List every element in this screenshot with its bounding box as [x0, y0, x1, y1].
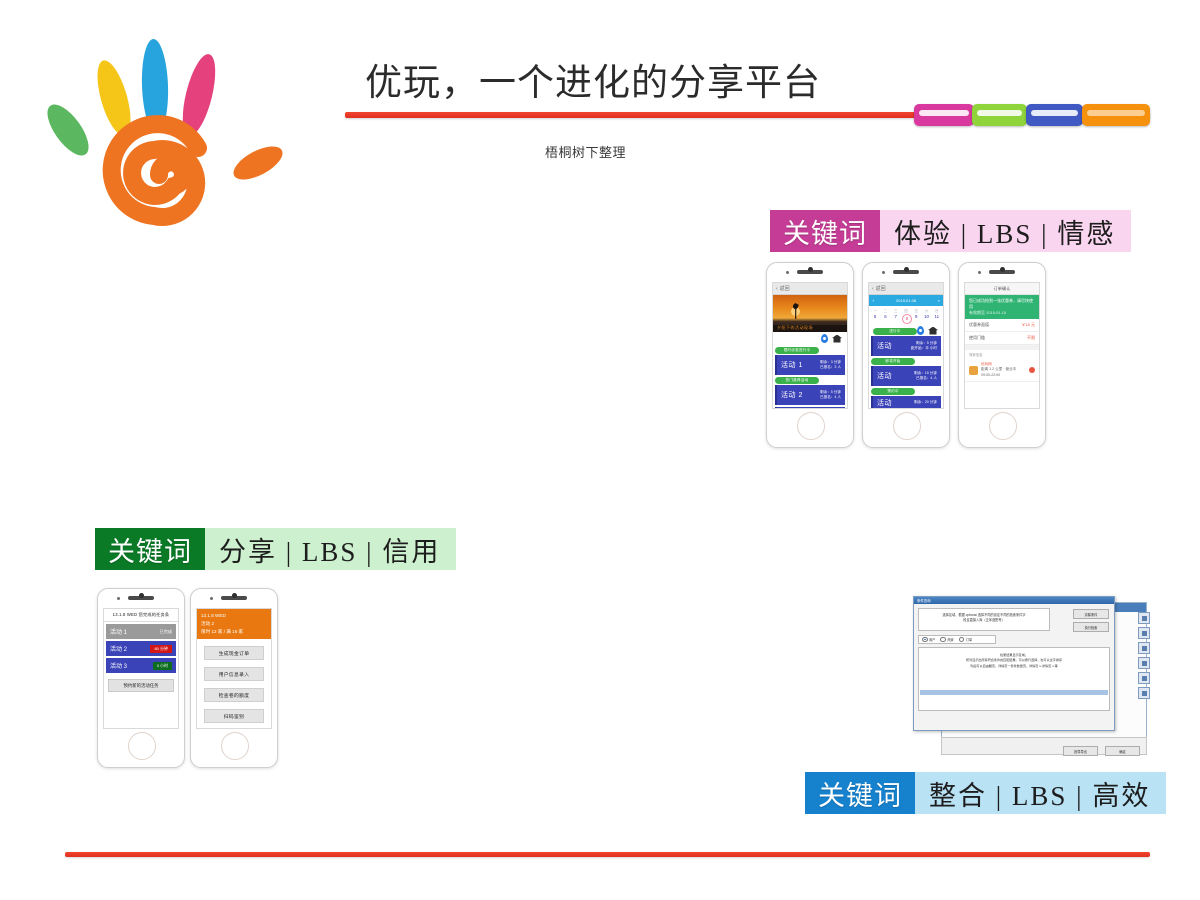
- activity-meta-line2: 已报名：3 人: [820, 365, 841, 370]
- book-new-task-button[interactable]: 预约新的活动任务: [108, 679, 174, 692]
- radio-option-order[interactable]: 订单: [959, 637, 972, 643]
- screen-header: 订单确认: [965, 283, 1039, 295]
- phone-mockup-order-confirm: 订单确认 您已成功抢到一张优惠券，请尽快使用 有效期至 2015.01.15 优…: [958, 262, 1046, 448]
- keyword-banner-integration: 关键词 整合 | LBS | 高效: [805, 772, 1166, 814]
- task-row[interactable]: 活动 3 3 小时: [106, 658, 176, 673]
- activity-meta-line2: 距开始：半 小时: [911, 346, 937, 351]
- phone-mockup-activity-list: ‹ 返回 夕阳下的活动现场 限时优惠进行中 活动 1 剩余：3 分钟 已报名：3…: [766, 262, 854, 448]
- home-icon[interactable]: [928, 327, 938, 335]
- menu-button-user-entry[interactable]: 用户信息录入: [204, 667, 264, 681]
- phone-camera-dot: [210, 597, 213, 600]
- menu-button-scan-verify[interactable]: 扫码鉴别: [204, 709, 264, 723]
- menu-button-generate-order[interactable]: 生成现金订单: [204, 646, 264, 660]
- description-box: 选择区域、根据 optional 选择不同的设定不同的检索条件字 段且直接入库（…: [918, 608, 1050, 631]
- decor-chip-orange: [1082, 104, 1150, 126]
- weekday-cell[interactable]: 六10: [923, 308, 931, 324]
- home-icon[interactable]: [832, 335, 842, 343]
- decor-chip-green: [972, 104, 1027, 126]
- task-status-badge: 3 小时: [153, 662, 172, 670]
- activity-meta: 剩余：3 分钟 已报名：3 人: [820, 360, 841, 371]
- toolbar-icon-button[interactable]: [1138, 672, 1150, 684]
- toolbar-icon-button[interactable]: [1138, 687, 1150, 699]
- menu-button-check-quota[interactable]: 检查卷的额度: [204, 688, 264, 702]
- phone-screen: ‹ 返回 + 2015.01.08 ⌕ 一5 二6 三7 四8 五9 六10 日…: [868, 282, 944, 409]
- icon-toolbar-column: [1138, 612, 1150, 699]
- phone-camera-dot: [882, 271, 885, 274]
- bottom-action-bar: 批导导出 确定: [941, 737, 1147, 755]
- location-pin-icon[interactable]: [917, 326, 924, 335]
- screen-header: 13.1.8 WED 您完成的任务条: [104, 609, 178, 622]
- home-button[interactable]: [989, 412, 1017, 440]
- nav-bar: ‹ 返回: [869, 283, 943, 295]
- header-line1: 13.1.8 WED: [201, 612, 267, 620]
- home-button[interactable]: [893, 412, 921, 440]
- phone-lens-dot: [139, 593, 144, 598]
- tag-pill: 限时优惠进行中: [775, 347, 819, 354]
- radio-label: 商家: [947, 637, 953, 642]
- nav-back-label: 返回: [876, 285, 886, 292]
- decor-chip-blue: [1026, 104, 1083, 126]
- slide-canvas: 优玩，一个进化的分享平台 梧桐树下整理 关键词 体验 | LBS | 情感 关键…: [0, 0, 1200, 900]
- hero-icon-row: [773, 332, 847, 345]
- phone-lens-dot: [904, 267, 909, 272]
- run-search-button[interactable]: 执行检索: [1073, 622, 1109, 632]
- activity-meta: 剩余：15 分钟 已报名：4 人: [914, 371, 937, 382]
- activity-name: 活动: [877, 341, 892, 351]
- tag-pill: 进行中: [873, 328, 917, 335]
- phone-camera-dot: [117, 597, 120, 600]
- weekday-cell[interactable]: 日11: [933, 308, 941, 324]
- weekday-cell[interactable]: 五9: [912, 308, 920, 324]
- promo-banner: 您已成功抢到一张优惠券，请尽快使用 有效期至 2015.01.15: [965, 295, 1039, 319]
- query-dialog: 条件查询 选择区域、根据 optional 选择不同的设定不同的检索条件字 段且…: [913, 596, 1115, 731]
- keyword-tag-label: 关键词: [770, 210, 880, 252]
- weekday-label: 五: [915, 309, 918, 313]
- dialog-body: 选择区域、根据 optional 选择不同的设定不同的检索条件字 段且直接入库（…: [914, 604, 1114, 715]
- radio-indicator: [959, 637, 965, 643]
- weekday-number: 8: [902, 314, 912, 324]
- weekday-label: 二: [884, 309, 887, 313]
- search-icon[interactable]: ⌕: [938, 298, 940, 303]
- weekday-strip: 一5 二6 三7 四8 五9 六10 日11: [869, 306, 943, 325]
- home-button[interactable]: [128, 732, 156, 760]
- radio-label: 用户: [929, 637, 935, 642]
- date-label: 2015.01.08: [896, 298, 916, 303]
- weekday-number: 7: [892, 314, 900, 319]
- detail-row-value: ￥15 元: [1021, 322, 1035, 328]
- activity-card[interactable]: 活动 剩余：5 分钟 距开始：半 小时: [871, 336, 941, 356]
- task-status: 已完成: [159, 629, 172, 635]
- description-line2: 段且直接入库（正序逐配号）: [922, 618, 1046, 623]
- export-button[interactable]: 批导导出: [1063, 746, 1098, 756]
- task-name: 活动 2: [110, 644, 127, 653]
- radio-option-merchant[interactable]: 商家: [940, 637, 953, 643]
- brand-logo-hand-spiral: [22, 20, 307, 240]
- task-name: 活动 1: [110, 627, 127, 636]
- phone-lens-dot: [1000, 267, 1005, 272]
- notification-badge-icon: [1029, 367, 1035, 373]
- weekday-cell[interactable]: 一5: [871, 308, 879, 324]
- dialog-side-buttons: 清除条件 执行检索: [1073, 609, 1109, 632]
- footer-divider-rule: [65, 852, 1150, 857]
- toolbar-icon-button[interactable]: [1138, 657, 1150, 669]
- home-button[interactable]: [221, 732, 249, 760]
- section-title: 商家信息: [965, 350, 1039, 359]
- nav-back-label: 返回: [780, 285, 790, 292]
- desktop-app-screenshot: 批导导出 确定 条件查询 选择区域、根据 optional 选择不同的设定不同的…: [913, 596, 1153, 761]
- keyword-body-label: 分享 | LBS | 信用: [205, 528, 456, 570]
- activity-name: 活动: [877, 371, 892, 381]
- activity-meta: 剩余：20 分钟: [914, 400, 937, 405]
- page-title: 优玩，一个进化的分享平台: [365, 52, 821, 106]
- weekday-number: 6: [881, 314, 889, 319]
- activity-meta: 剩余：5 分钟 距开始：半 小时: [911, 341, 937, 352]
- keyword-body-label: 体验 | LBS | 情感: [880, 210, 1131, 252]
- weekday-number: 9: [912, 314, 920, 319]
- toolbar-icon-button[interactable]: [1138, 642, 1150, 654]
- detail-row: 优惠券面值 ￥15 元: [965, 319, 1039, 332]
- keyword-tag-label: 关键词: [805, 772, 915, 814]
- results-selected-row[interactable]: [920, 690, 1108, 695]
- activity-meta-line2: 已报名：4 人: [820, 395, 841, 400]
- weekday-cell[interactable]: 三7: [892, 308, 900, 324]
- promo-banner-line2: 有效期至 2015.01.15: [969, 310, 1035, 316]
- keyword-body-label: 整合 | LBS | 高效: [915, 772, 1166, 814]
- back-arrow-icon[interactable]: ‹: [776, 286, 778, 292]
- radio-indicator: [922, 637, 928, 643]
- phone-camera-dot: [978, 271, 981, 274]
- results-list[interactable]: 检索结果显示区域。 所列显示出所有符合条件的匹配结果，可以按行选择，也可以全字排…: [918, 647, 1110, 711]
- weekday-number: 11: [933, 314, 941, 319]
- nav-bar: ‹ 返回: [773, 283, 847, 295]
- decor-chip-magenta: [914, 104, 974, 126]
- screen-header: 13.1.8 WED 活动 2 限时 12 家 / 满 15 家: [197, 609, 271, 639]
- page-subtitle: 梧桐树下整理: [545, 142, 626, 161]
- toolbar-icon-button[interactable]: [1138, 627, 1150, 639]
- home-button[interactable]: [797, 412, 825, 440]
- task-name: 活动 3: [110, 661, 127, 670]
- toolbar-icon-button[interactable]: [1138, 612, 1150, 624]
- tag-pill: 热门推荐活动: [775, 377, 819, 384]
- radio-option-user[interactable]: 用户: [922, 637, 935, 643]
- task-status-badge: 80 分钟: [150, 645, 172, 653]
- activity-card[interactable]: 活动 剩余：15 分钟 已报名：4 人: [871, 366, 941, 386]
- phone-screen: 13.1.8 WED 活动 2 限时 12 家 / 满 15 家 生成现金订单 …: [196, 608, 272, 729]
- phone-camera-dot: [786, 271, 789, 274]
- header-line2: 活动 2: [201, 620, 267, 628]
- weekday-number: 10: [923, 314, 931, 319]
- phone-screen: ‹ 返回 夕阳下的活动现场 限时优惠进行中 活动 1 剩余：3 分钟 已报名：3…: [772, 282, 848, 409]
- activity-name: 活动: [877, 398, 892, 408]
- weekday-label: 三: [894, 309, 897, 313]
- merchant-avatar: [969, 366, 978, 375]
- add-icon[interactable]: +: [872, 298, 874, 303]
- detail-row-value: 不限: [1027, 335, 1035, 341]
- promo-banner-line1: 您已成功抢到一张优惠券，请尽快使用: [969, 298, 1035, 310]
- weekday-cell[interactable]: 二6: [881, 308, 889, 324]
- radio-label: 订单: [966, 637, 972, 642]
- date-toolbar: + 2015.01.08 ⌕: [869, 295, 943, 306]
- merchant-row[interactable]: 优玩网 距离 1.2 公里 · 营业中 09:00-22:00: [965, 359, 1039, 382]
- hero-caption: 夕阳下的活动现场: [777, 325, 813, 331]
- weekday-label: 日: [935, 309, 938, 313]
- results-line3: 列后可以自由翻页，详情页一条件数量页，详情页 1-详情页 n 等: [923, 664, 1105, 669]
- phone-mockup-task-list: 13.1.8 WED 您完成的任务条 活动 1 已完成 活动 2 80 分钟 活…: [97, 588, 185, 768]
- weekday-label: 一: [873, 309, 876, 313]
- header-line3: 限时 12 家 / 满 15 家: [201, 628, 267, 636]
- keyword-banner-experience: 关键词 体验 | LBS | 情感: [770, 210, 1131, 252]
- phone-mockup-merchant-menu: 13.1.8 WED 活动 2 限时 12 家 / 满 15 家 生成现金订单 …: [190, 588, 278, 768]
- activity-card[interactable]: 活动 2 剩余：5 分钟 已报名：4 人: [775, 385, 845, 405]
- phone-lens-dot: [232, 593, 237, 598]
- confirm-button[interactable]: 确定: [1105, 746, 1140, 756]
- phone-lens-dot: [808, 267, 813, 272]
- detail-row-label: 优惠券面值: [969, 322, 989, 328]
- phone-screen: 订单确认 您已成功抢到一张优惠券，请尽快使用 有效期至 2015.01.15 优…: [964, 282, 1040, 409]
- clear-conditions-button[interactable]: 清除条件: [1073, 609, 1109, 619]
- task-row[interactable]: 活动 2 80 分钟: [106, 641, 176, 656]
- phone-screen: 13.1.8 WED 您完成的任务条 活动 1 已完成 活动 2 80 分钟 活…: [103, 608, 179, 729]
- tag-pill: 即将开始: [871, 358, 915, 365]
- activity-card[interactable]: 活动 剩余：20 分钟: [871, 396, 941, 409]
- weekday-label: 六: [925, 309, 928, 313]
- location-pin-icon[interactable]: [821, 334, 828, 343]
- back-arrow-icon[interactable]: ‹: [872, 286, 874, 292]
- activity-meta: 剩余：5 分钟 已报名：4 人: [820, 390, 841, 401]
- activity-card[interactable]: 活动 1 剩余：3 分钟 已报名：3 人: [775, 355, 845, 375]
- weekday-label: 四: [904, 309, 907, 313]
- detail-row-label: 使用门槛: [969, 335, 985, 341]
- activity-meta-line1: 剩余：20 分钟: [914, 400, 937, 405]
- activity-card[interactable]: 活动 3 剩余：5 分钟 已报名：4 人: [775, 407, 845, 409]
- activity-meta-line2: 已报名：4 人: [914, 376, 937, 381]
- weekday-number: 5: [871, 314, 879, 319]
- merchant-desc: 距离 1.2 公里 · 营业中 09:00-22:00: [981, 367, 1026, 378]
- merchant-info: 优玩网 距离 1.2 公里 · 营业中 09:00-22:00: [981, 362, 1026, 378]
- task-row[interactable]: 活动 1 已完成: [106, 624, 176, 639]
- keyword-tag-label: 关键词: [95, 528, 205, 570]
- dialog-titlebar: 条件查询: [914, 597, 1114, 604]
- calendar-icon-row: 进行中: [869, 325, 943, 336]
- scope-radio-group: 用户 商家 订单: [918, 635, 996, 644]
- tag-pill: 预约中: [871, 388, 915, 395]
- hero-image-sunset: 夕阳下的活动现场: [773, 295, 847, 332]
- keyword-banner-share: 关键词 分享 | LBS | 信用: [95, 528, 456, 570]
- detail-row: 使用门槛 不限: [965, 332, 1039, 345]
- radio-indicator: [940, 637, 946, 643]
- phone-mockup-calendar: ‹ 返回 + 2015.01.08 ⌕ 一5 二6 三7 四8 五9 六10 日…: [862, 262, 950, 448]
- weekday-cell-selected[interactable]: 四8: [902, 308, 910, 324]
- activity-name: 活动 2: [781, 390, 803, 400]
- activity-name: 活动 1: [781, 360, 803, 370]
